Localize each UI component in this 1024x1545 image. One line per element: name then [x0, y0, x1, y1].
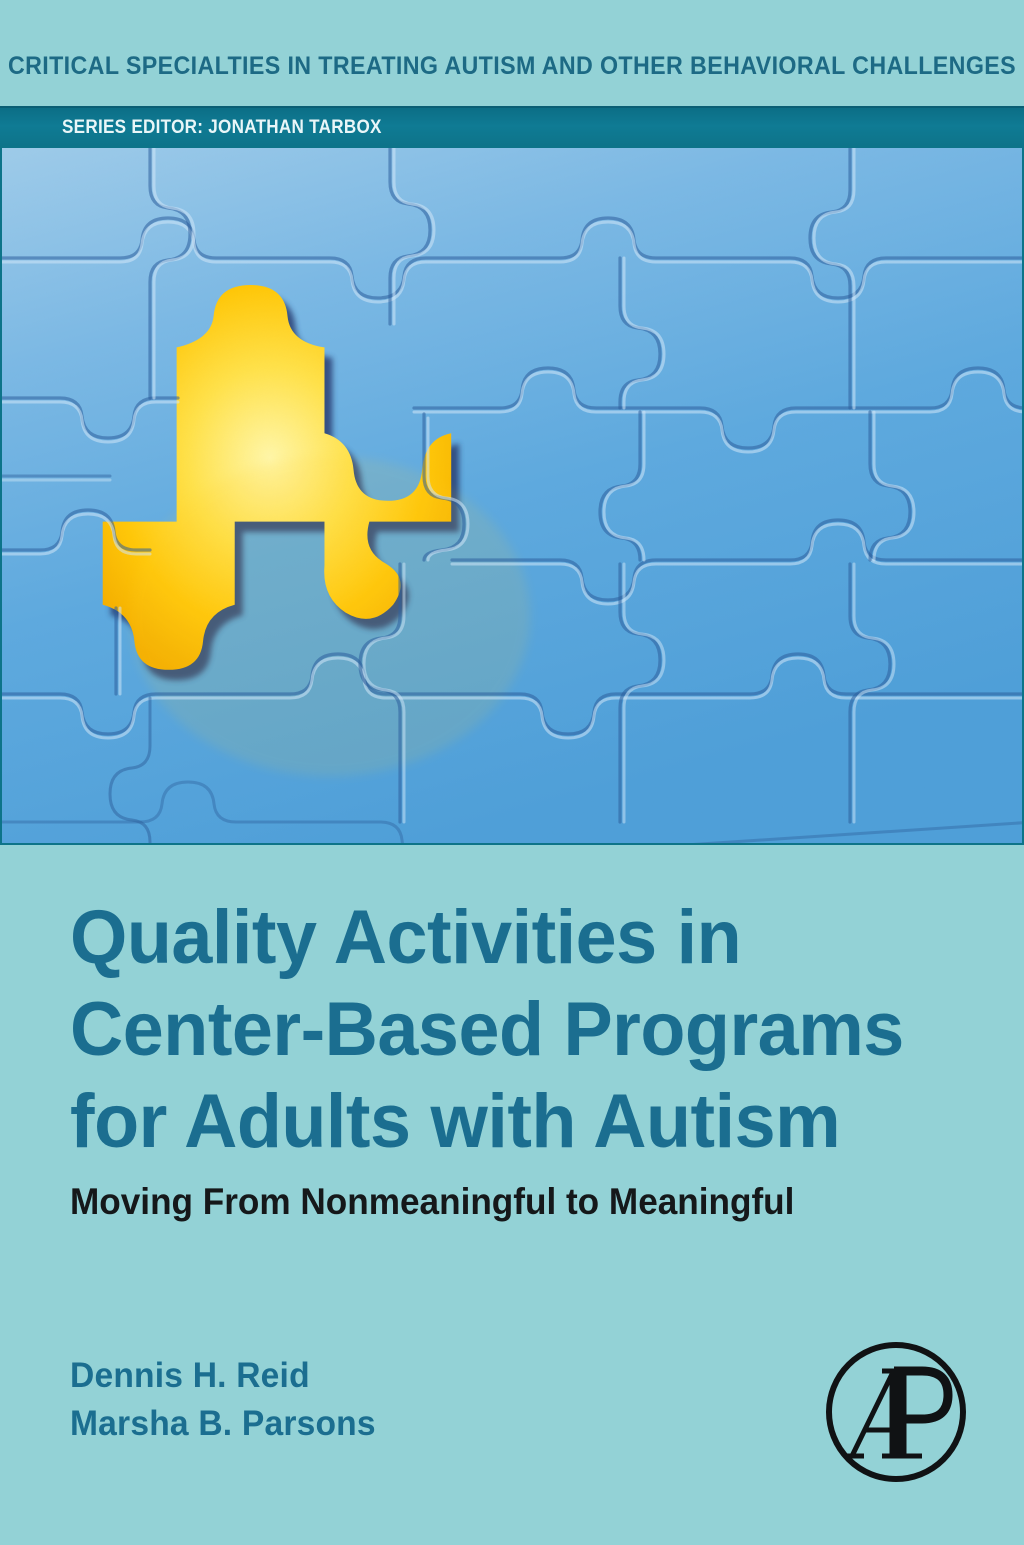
series-title-band: Critical Specialties in Treating Autism … — [0, 0, 1024, 106]
series-editor-bar: Series Editor: Jonathan Tarbox — [0, 106, 1024, 148]
series-editor-label: Series Editor: Jonathan Tarbox — [62, 108, 382, 148]
page-title-line-2: Center-Based Programs — [70, 992, 943, 1068]
series-name: Critical Specialties in Treating Autism … — [36, 0, 988, 106]
page-subtitle: Moving From Nonmeaningful to Meaningful — [70, 1182, 925, 1223]
academic-press-logo — [822, 1338, 970, 1486]
page-title-line-3: for Adults with Autism — [70, 1084, 943, 1160]
author-name-1: Dennis H. Reid — [70, 1352, 376, 1400]
author-name-2: Marsha B. Parsons — [70, 1400, 376, 1448]
academic-press-monogram-icon — [822, 1338, 970, 1486]
title-block: Quality Activities in Center-Based Progr… — [70, 900, 970, 1223]
jigsaw-puzzle-illustration — [0, 146, 1024, 845]
cover-photo-jigsaw-puzzle — [0, 146, 1024, 845]
authors-block: Dennis H. Reid Marsha B. Parsons — [70, 1352, 389, 1449]
book-cover: Critical Specialties in Treating Autism … — [0, 0, 1024, 1545]
page-title-line-1: Quality Activities in — [70, 900, 943, 976]
